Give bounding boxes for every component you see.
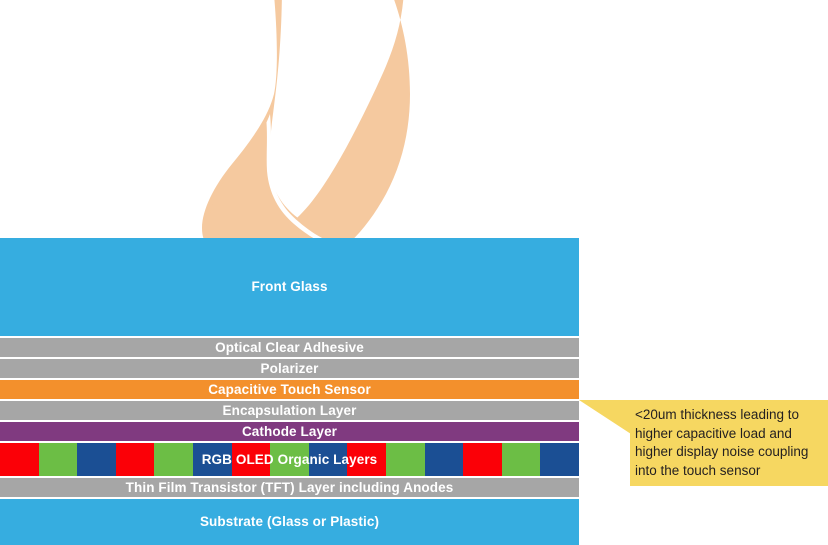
rgb-subpixel-stripe	[425, 443, 464, 476]
callout-tail	[579, 400, 631, 486]
layer-cathode: Cathode Layer	[0, 422, 579, 441]
layer-capacitive-touch-sensor-label: Capacitive Touch Sensor	[208, 383, 371, 397]
callout-text-line: higher capacitive load and	[635, 425, 827, 444]
layer-front-glass: Front Glass	[0, 238, 579, 336]
callout-text-line: into the touch sensor	[635, 462, 827, 481]
rgb-subpixel-stripe	[540, 443, 579, 476]
layer-tft-label: Thin Film Transistor (TFT) Layer includi…	[126, 481, 454, 495]
rgb-subpixel-stripe	[386, 443, 425, 476]
layer-rgb-oled-organic: RGB OLED Organic Layers	[0, 443, 579, 476]
layer-cathode-label: Cathode Layer	[242, 425, 337, 439]
finger-touch-illustration	[170, 0, 430, 246]
display-layer-stack: Front Glass Optical Clear Adhesive Polar…	[0, 238, 579, 545]
callout-text-line: <20um thickness leading to	[635, 406, 827, 425]
rgb-subpixel-stripe	[0, 443, 39, 476]
layer-capacitive-touch-sensor: Capacitive Touch Sensor	[0, 380, 579, 399]
rgb-subpixel-stripe	[463, 443, 502, 476]
layer-rgb-oled-organic-label: RGB OLED Organic Layers	[202, 453, 378, 467]
rgb-subpixel-stripe	[77, 443, 116, 476]
thickness-annotation-callout: <20um thickness leading tohigher capacit…	[579, 400, 828, 486]
layer-optical-clear-adhesive: Optical Clear Adhesive	[0, 338, 579, 357]
diagram-canvas: Front Glass Optical Clear Adhesive Polar…	[0, 0, 828, 543]
layer-substrate-label: Substrate (Glass or Plastic)	[200, 515, 379, 529]
layer-polarizer: Polarizer	[0, 359, 579, 378]
callout-text-line: higher display noise coupling	[635, 443, 827, 462]
layer-front-glass-label: Front Glass	[251, 280, 327, 294]
rgb-subpixel-stripe	[502, 443, 541, 476]
callout-text: <20um thickness leading tohigher capacit…	[635, 406, 827, 480]
layer-optical-clear-adhesive-label: Optical Clear Adhesive	[215, 341, 364, 355]
layer-encapsulation: Encapsulation Layer	[0, 401, 579, 420]
layer-encapsulation-label: Encapsulation Layer	[223, 404, 357, 418]
rgb-subpixel-stripe	[154, 443, 193, 476]
layer-tft: Thin Film Transistor (TFT) Layer includi…	[0, 478, 579, 497]
layer-substrate: Substrate (Glass or Plastic)	[0, 499, 579, 545]
rgb-subpixel-stripe	[39, 443, 78, 476]
rgb-subpixel-stripe	[116, 443, 155, 476]
layer-polarizer-label: Polarizer	[261, 362, 319, 376]
